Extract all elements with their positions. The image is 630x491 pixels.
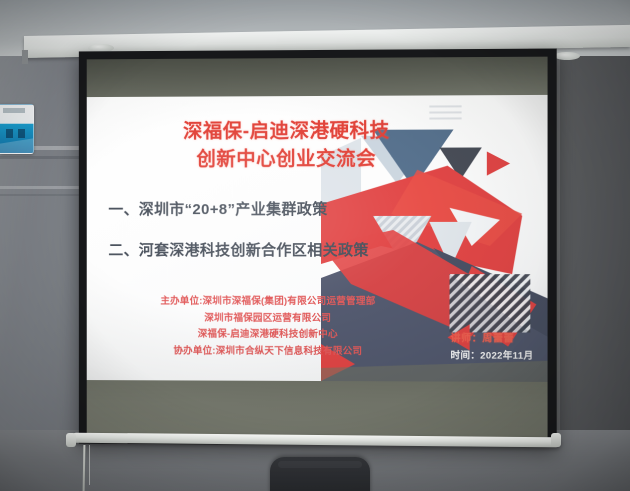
- slide-text-layer: 深福保-启迪深港硬科技 创新中心创业交流会 一、深圳市“20+8”产业集群政策 …: [87, 95, 548, 382]
- organizer-line-1: 主办单位:深圳市深福保(集团)有限公司运营管理部: [97, 294, 441, 311]
- wall-molding: [0, 186, 84, 189]
- screen-bar-end-cap: [551, 433, 561, 447]
- sign-glyph: [6, 129, 13, 138]
- agenda-item-2: 二、河套深港科技创新合作区相关政策: [108, 241, 437, 261]
- photo-scene: 深福保-启迪深港硬科技 创新中心创业交流会 一、深圳市“20+8”产业集群政策 …: [0, 0, 630, 491]
- organizer-line-3: 深福保-启迪深港硬科技创新中心: [97, 326, 441, 343]
- slide-title: 深福保-启迪深港硬科技 创新中心创业交流会: [122, 117, 451, 173]
- sign-swoosh: [0, 138, 34, 154]
- slide-title-line-1: 深福保-启迪深港硬科技: [122, 117, 451, 146]
- screen-pull-cord: [89, 445, 90, 485]
- rail-bracket: [22, 50, 28, 64]
- sign-glyph: [18, 129, 25, 138]
- organizer-line-2: 深圳市福保园区运营有限公司: [97, 310, 441, 327]
- wall-molding: [0, 194, 84, 196]
- speaker-name: 讲师：周蕾蕾: [451, 329, 534, 344]
- slide-title-line-2: 创新中心创业交流会: [122, 145, 451, 174]
- organizer-line-4: 协办单位:深圳市合纵天下信息科技有限公司: [97, 343, 441, 361]
- slide-organizers: 主办单位:深圳市深福保(集团)有限公司运营管理部 深圳市福保园区运营有限公司 深…: [97, 294, 441, 361]
- projection-screen-frame: 深福保-启迪深港硬科技 创新中心创业交流会 一、深圳市“20+8”产业集群政策 …: [79, 49, 557, 447]
- projection-screen-surface: 深福保-启迪深港硬科技 创新中心创业交流会 一、深圳市“20+8”产业集群政策 …: [87, 57, 548, 438]
- projected-slide: 深福保-启迪深港硬科技 创新中心创业交流会 一、深圳市“20+8”产业集群政策 …: [87, 95, 548, 382]
- screen-unused-area: [87, 380, 548, 437]
- chair-highlight: [278, 461, 362, 468]
- blue-wall-sign: [0, 104, 34, 154]
- slide-speaker-block: 讲师：周蕾蕾 时间：2022年11月: [451, 329, 534, 361]
- slide-agenda-list: 一、深圳市“20+8”产业集群政策 二、河套深港科技创新合作区相关政策: [108, 200, 437, 283]
- event-date: 时间：2022年11月: [451, 347, 534, 361]
- screen-top-shadow: [87, 57, 548, 97]
- sign-header-strip: [3, 108, 25, 113]
- slide-canvas: 深福保-启迪深港硬科技 创新中心创业交流会 一、深圳市“20+8”产业集群政策 …: [87, 95, 548, 382]
- right-wall: [560, 36, 630, 491]
- rail-mount-knob: [554, 52, 580, 60]
- wall-molding: [0, 156, 84, 159]
- screen-bar-end-cap: [66, 433, 76, 447]
- agenda-item-1: 一、深圳市“20+8”产业集群政策: [108, 200, 437, 221]
- chair-back: [270, 457, 370, 491]
